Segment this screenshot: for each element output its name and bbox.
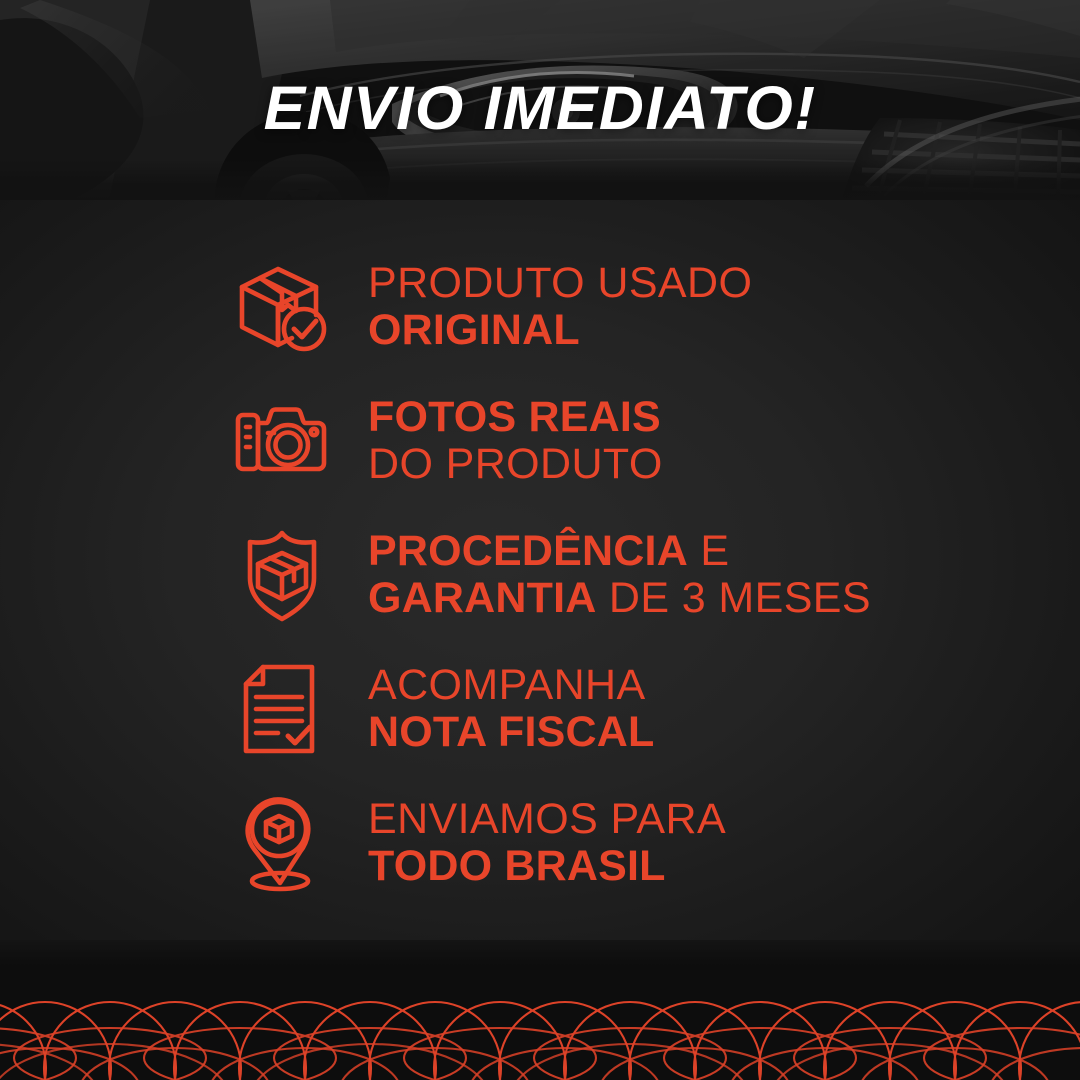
feature-line-2: GARANTIA DE 3 MESES — [368, 576, 871, 621]
header-car-photo: ENVIO IMEDIATO! — [0, 0, 1080, 205]
feature-line-2-bold: GARANTIA — [368, 574, 597, 622]
feature-item: ENVIAMOS PARA TODO BRASIL — [228, 784, 1028, 902]
page-title: ENVIO IMEDIATO! — [263, 78, 816, 139]
headline-container: ENVIO IMEDIATO! — [0, 0, 1080, 205]
feature-line-2: DO PRODUTO — [368, 442, 663, 487]
feature-text: ACOMPANHA NOTA FISCAL — [368, 663, 654, 754]
invoice-document-icon — [228, 655, 336, 763]
feature-line-2-regular: DE 3 MESES — [597, 574, 871, 622]
footer-decorative-pattern — [0, 940, 1080, 1080]
feature-line-2: NOTA FISCAL — [368, 710, 654, 755]
feature-line-1: FOTOS REAIS — [368, 395, 663, 440]
feature-item: FOTOS REAIS DO PRODUTO — [228, 382, 1028, 500]
feature-item: PRODUTO USADO ORIGINAL — [228, 248, 1028, 366]
feature-text: ENVIAMOS PARA TODO BRASIL — [368, 797, 726, 888]
feature-line-2: TODO BRASIL — [368, 844, 726, 889]
promotional-banner: ENVIO IMEDIATO! — [0, 0, 1080, 1080]
location-pin-box-icon — [228, 789, 336, 897]
feature-line-1-regular: E — [688, 527, 729, 575]
feature-line-1: ACOMPANHA — [368, 663, 654, 708]
feature-item: ACOMPANHA NOTA FISCAL — [228, 650, 1028, 768]
overlapping-circles-pattern-svg — [0, 940, 1080, 1080]
box-check-icon — [228, 253, 336, 361]
shield-box-icon — [228, 521, 336, 629]
feature-line-1-bold: PROCEDÊNCIA — [368, 527, 688, 575]
feature-line-1: ENVIAMOS PARA — [368, 797, 726, 842]
features-section: PRODUTO USADO ORIGINAL — [0, 200, 1080, 945]
feature-item: PROCEDÊNCIA E GARANTIA DE 3 MESES — [228, 516, 1028, 634]
feature-text: PROCEDÊNCIA E GARANTIA DE 3 MESES — [368, 529, 871, 620]
feature-line-2: ORIGINAL — [368, 308, 752, 353]
features-list: PRODUTO USADO ORIGINAL — [228, 248, 1028, 902]
camera-icon — [228, 387, 336, 495]
feature-line-1: PRODUTO USADO — [368, 261, 752, 306]
feature-line-1: PROCEDÊNCIA E — [368, 529, 871, 574]
feature-text: FOTOS REAIS DO PRODUTO — [368, 395, 663, 486]
feature-text: PRODUTO USADO ORIGINAL — [368, 261, 752, 352]
